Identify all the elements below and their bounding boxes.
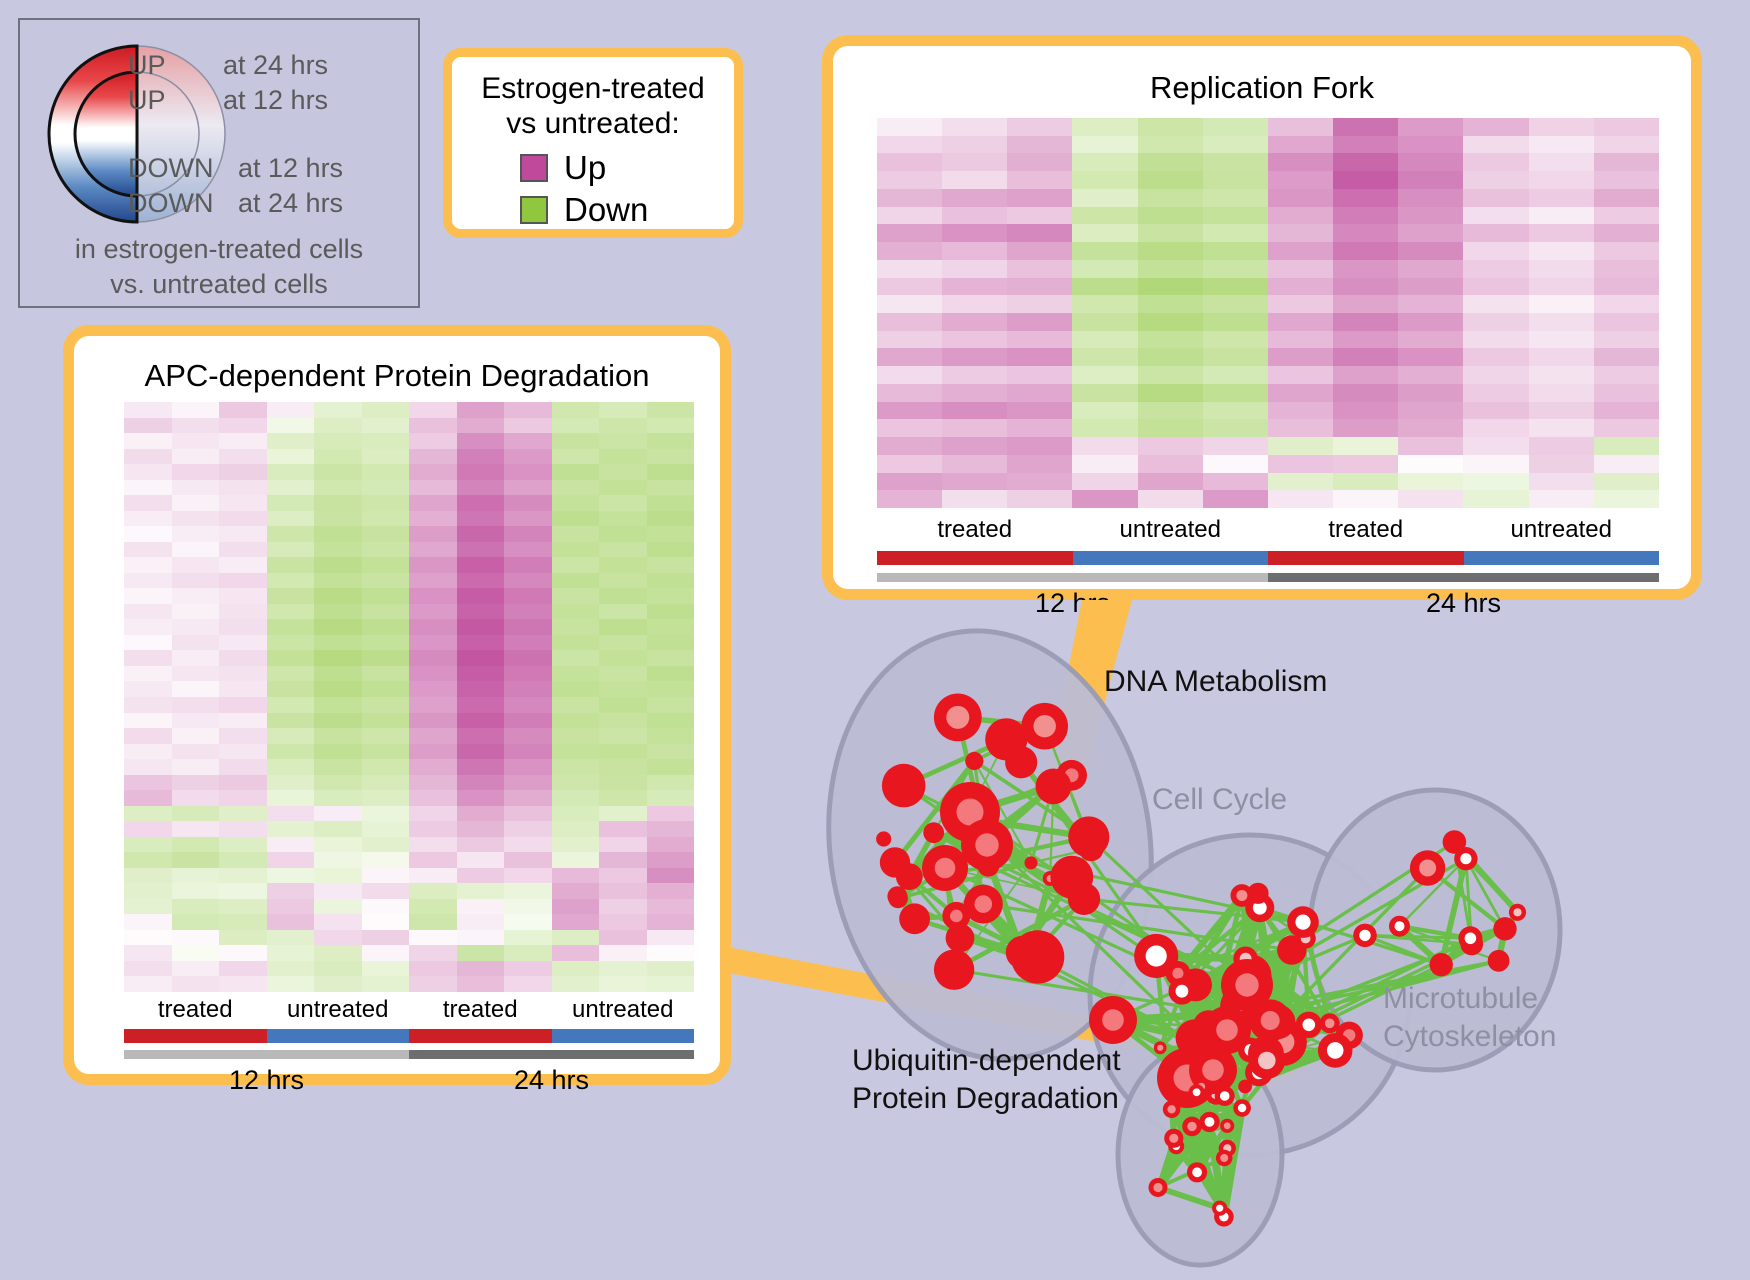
heatmap-cell [1268,366,1333,384]
heatmap-cell [1398,331,1463,349]
heatmap-cell [942,295,1007,313]
heatmap-cell [267,744,315,760]
heatmap-cell [1594,402,1659,420]
heatmap-cell [124,899,172,915]
heatmap-cell [599,868,647,884]
heatmap-cell [552,464,600,480]
heatmap-cell [409,914,457,930]
heatmap-cell [1529,473,1594,491]
heatmap-cell [314,806,362,822]
heatmap-cell [267,930,315,946]
heatmap-cell [267,449,315,465]
heatmap-cell [1203,153,1268,171]
heatmap-cell [647,899,695,915]
heatmap-cell [1529,278,1594,296]
panel-title-apc: APC-dependent Protein Degradation [74,358,720,394]
heatmap-cell [1463,331,1528,349]
heatmap-cell [504,728,552,744]
heatmap-cell [504,744,552,760]
heatmap-cell [877,207,942,225]
heatmap-cell [1072,295,1137,313]
heatmap-cell [362,666,410,682]
heatmap-cell [599,806,647,822]
treatment-bar-segment [1464,551,1660,565]
heatmap-cell [219,418,267,434]
heatmap-cell [219,790,267,806]
heatmap-cell [1333,490,1398,508]
heatmap-cell [1268,207,1333,225]
heatmap-cell [267,837,315,853]
network-node-core [1205,1117,1215,1127]
heatmap-cell [1072,260,1137,278]
network-node [934,950,974,990]
heatmap-cell [1203,473,1268,491]
heatmap-cell [409,790,457,806]
heatmap-cell [552,495,600,511]
heatmap-cell [1007,153,1072,171]
heatmap-cell [314,961,362,977]
heatmap-cell [362,728,410,744]
heatmap-cell [362,619,410,635]
heatmap-cell [1529,260,1594,278]
heatmap-cell [552,821,600,837]
heatmap-cell [124,464,172,480]
heatmap-cell [1138,437,1203,455]
network-node-core [950,910,963,923]
heatmap-cell [1333,331,1398,349]
heatmap-cell [267,790,315,806]
group-label: treated [409,996,552,1024]
heatmap-cell [504,495,552,511]
heatmap-cell [267,806,315,822]
heatmap-cell [314,930,362,946]
heatmap-cell [172,588,220,604]
heatmap-cell [457,681,505,697]
heatmap-cell [504,930,552,946]
heatmap-cell [1072,366,1137,384]
heatmap-cell [1007,437,1072,455]
heatmap-cell [599,588,647,604]
heatmap-cell [362,635,410,651]
heatmap-cell [457,961,505,977]
heatmap-cell [1138,118,1203,136]
heatmap-cell [942,437,1007,455]
heatmap-cell [599,713,647,729]
heatmap-cell [1007,384,1072,402]
heatmap-cell [1007,348,1072,366]
key-footer: in estrogen-treated cells vs. untreated … [20,232,418,301]
heatmap-cell [314,790,362,806]
heatmap-cell [1594,118,1659,136]
heatmap-cell [409,806,457,822]
heatmap-cell [647,775,695,791]
heatmap-cell [172,495,220,511]
legend-title-line1: Estrogen-treated [452,71,734,106]
network-node-core [1193,1088,1201,1096]
heatmap-cell [1333,402,1398,420]
heatmap-cell [219,868,267,884]
heatmap-cell [457,526,505,542]
heatmap-cell [267,526,315,542]
heatmap-cell [172,976,220,992]
heatmap-cell [1463,260,1528,278]
heatmap-cell [409,418,457,434]
heatmap-cell [172,464,220,480]
heatmap-cell [409,883,457,899]
heatmap-cell [314,573,362,589]
heatmap-cell [552,868,600,884]
heatmap-cell [1007,419,1072,437]
heatmap-cell [1529,207,1594,225]
heatmap-cell [1398,348,1463,366]
heatmap-cell [267,464,315,480]
heatmap-cell [599,511,647,527]
heatmap-cell [172,930,220,946]
heatmap-cell [124,557,172,573]
heatmap-cell [599,961,647,977]
heatmap-cell [504,790,552,806]
heatmap-cell [1138,402,1203,420]
heatmap-cell [1594,455,1659,473]
heatmap-cell [314,868,362,884]
heatmap-cell [552,852,600,868]
heatmap-cell [1138,278,1203,296]
heatmap-cell [504,759,552,775]
heatmap-cell [647,976,695,992]
heatmap-cell [599,650,647,666]
heatmap-cell [314,945,362,961]
heatmap-cell [314,775,362,791]
heatmap-cell [219,930,267,946]
heatmap-cell [1072,455,1137,473]
heatmap-cell [1203,278,1268,296]
heatmap-cell [362,526,410,542]
heatmap-cell [1072,313,1137,331]
network-node [1036,769,1072,805]
group-labels-apc: treateduntreatedtreateduntreated [124,996,694,1024]
heatmap-cell [124,588,172,604]
heatmap-cell [552,681,600,697]
heatmap-cell [1463,118,1528,136]
heatmap-cell [1463,313,1528,331]
heatmap-cell [504,821,552,837]
heatmap-cell [409,433,457,449]
heatmap-cell [942,490,1007,508]
network-node [1006,936,1039,969]
heatmap-cell [1333,313,1398,331]
heatmap-cell [552,604,600,620]
heatmap-cell [1463,189,1528,207]
network-node-core [1261,1011,1280,1030]
heatmap-cell [599,449,647,465]
heatmap-cell [877,348,942,366]
heatmap-cell [1594,207,1659,225]
heatmap-cell [1398,437,1463,455]
heatmap-cell [599,526,647,542]
heatmap-cell [124,526,172,542]
heatmap-cell [267,666,315,682]
network-node-core [1224,1122,1231,1129]
heatmap-cell [267,418,315,434]
legend-label-down: Down [564,191,648,229]
heatmap-cell [409,976,457,992]
heatmap-cell [267,728,315,744]
heatmap-cell [1463,455,1528,473]
heatmap-cell [1463,153,1528,171]
heatmap-cell [457,790,505,806]
heatmap-cell [409,666,457,682]
heatmap-cell [362,945,410,961]
heatmap-cell [1007,171,1072,189]
heatmap-cell [409,930,457,946]
heatmap-cell [409,619,457,635]
heatmap-cell [1594,136,1659,154]
heatmap-cell [219,495,267,511]
heatmap-cell [1398,118,1463,136]
heatmap-cell [314,635,362,651]
heatmap-cell [504,635,552,651]
network-node-core [1236,890,1247,901]
heatmap-cell [267,557,315,573]
heatmap-apc [124,402,694,992]
heatmap-cell [877,278,942,296]
heatmap-cell [172,449,220,465]
heatmap-cell [219,681,267,697]
heatmap-cell [219,883,267,899]
down-swatch-icon [520,196,548,224]
heatmap-cell [219,775,267,791]
heatmap-cell [1463,402,1528,420]
heatmap-cell [599,914,647,930]
treatment-bar-segment [124,1029,267,1043]
key-state-up-24: UP [128,50,166,81]
legend-title: Estrogen-treated vs untreated: [452,71,734,142]
heatmap-cell [172,914,220,930]
heatmap-cell [1594,366,1659,384]
time-bar-segment [1268,573,1659,582]
network-node-core [1325,1019,1335,1029]
treatment-bar-segment [409,1029,552,1043]
heatmap-cell [124,837,172,853]
group-label: untreated [1073,516,1269,544]
heatmap-cell [647,713,695,729]
heatmap-cell [1072,189,1137,207]
heatmap-cell [219,402,267,418]
key-time-down-12: at 12 hrs [238,153,343,184]
legend-items: Up Down [520,147,648,231]
heatmap-cell [362,806,410,822]
heatmap-cell [172,961,220,977]
heatmap-cell [877,242,942,260]
network-node [1443,830,1467,854]
heatmap-cell [267,697,315,713]
heatmap-cell [409,635,457,651]
key-state-up-12: UP [128,85,166,116]
heatmap-cell [124,666,172,682]
network-node-core [975,895,993,913]
heatmap-cell [1268,278,1333,296]
network-node [1238,1080,1252,1094]
network-node-core [1220,1091,1230,1101]
heatmap-cell [1529,313,1594,331]
heatmap-cell [599,790,647,806]
heatmap-cell [1138,136,1203,154]
heatmap-cell [504,961,552,977]
heatmap-cell [1529,118,1594,136]
key-time-down-24: at 24 hrs [238,188,343,219]
heatmap-cell [1333,136,1398,154]
network-node-core [1202,1059,1224,1081]
heatmap-cell [409,604,457,620]
heatmap-cell [219,449,267,465]
heatmap-cell [877,384,942,402]
legend-label-up: Up [564,149,606,187]
heatmap-cell [314,666,362,682]
heatmap-cell [647,511,695,527]
heatmap-cell [647,681,695,697]
heatmap-cell [457,821,505,837]
treatment-bar-segment [877,551,1073,565]
heatmap-cell [1072,473,1137,491]
heatmap-cell [647,480,695,496]
heatmap-cell [942,189,1007,207]
legend-item-down: Down [520,189,648,231]
heatmap-cell [552,914,600,930]
heatmap-cell [647,914,695,930]
heatmap-cell [172,480,220,496]
heatmap-cell [219,821,267,837]
heatmap-cell [1268,260,1333,278]
heatmap-cell [1268,295,1333,313]
heatmap-cell [314,588,362,604]
heatmap-cell [1594,242,1659,260]
network-node [888,889,908,909]
network-node-core [1187,1122,1196,1131]
heatmap-cell [599,619,647,635]
heatmap-cell [1333,366,1398,384]
heatmap-cell [552,744,600,760]
heatmap-cell [1268,384,1333,402]
heatmap-cell [314,852,362,868]
heatmap-cell [552,402,600,418]
heatmap-cell [124,495,172,511]
heatmap-cell [124,806,172,822]
heatmap-cell [1007,207,1072,225]
heatmap-cell [1072,224,1137,242]
heatmap-cell [409,961,457,977]
heatmap-cell [457,666,505,682]
heatmap-cell [552,806,600,822]
heatmap-cell [172,619,220,635]
heatmap-cell [1138,384,1203,402]
heatmap-cell [267,495,315,511]
heatmap-cell [1007,189,1072,207]
heatmap-cell [599,681,647,697]
heatmap-cell [409,837,457,853]
heatmap-cell [552,650,600,666]
heatmap-cell [362,557,410,573]
heatmap-cell [219,914,267,930]
heatmap-cell [1268,136,1333,154]
heatmap-cell [457,976,505,992]
heatmap-cell [1007,224,1072,242]
heatmap-cell [1007,278,1072,296]
heatmap-cell [267,650,315,666]
heatmap-cell [267,852,315,868]
time-label: 12 hrs [124,1065,409,1096]
heatmap-cell [172,744,220,760]
heatmap-cell [504,573,552,589]
heatmap-cell [1203,419,1268,437]
heatmap-cell [457,775,505,791]
heatmap-cell [1333,419,1398,437]
group-label: treated [124,996,267,1024]
heatmap-cell [362,464,410,480]
heatmap-cell [1268,473,1333,491]
heatmap-cell [942,171,1007,189]
heatmap-cell [172,759,220,775]
heatmap-cell [1333,473,1398,491]
network-node [965,752,983,770]
heatmap-cell [552,511,600,527]
heatmap-cell [1594,260,1659,278]
heatmap-cell [314,837,362,853]
heatmap-cell [1138,207,1203,225]
key-state-down-12: DOWN [128,153,213,184]
heatmap-cell [1138,419,1203,437]
heatmap-cell [877,366,942,384]
heatmap-cell [457,837,505,853]
heatmap-cell [362,914,410,930]
heatmap-cell [124,744,172,760]
heatmap-cell [314,899,362,915]
heatmap-cell [172,945,220,961]
heatmap-cell [552,945,600,961]
heatmap-cell [504,914,552,930]
heatmap-cell [362,961,410,977]
network-node-core [1172,968,1183,979]
heatmap-cell [599,418,647,434]
heatmap-cell [647,449,695,465]
heatmap-cell [1268,242,1333,260]
time-label: 24 hrs [409,1065,694,1096]
heatmap-cell [314,480,362,496]
heatmap-cell [457,868,505,884]
heatmap-cell [124,619,172,635]
network-node [899,903,930,934]
heatmap-cell [267,635,315,651]
heatmap-cell [1138,366,1203,384]
heatmap-cell [457,852,505,868]
heatmap-cell [647,930,695,946]
heatmap-cell [647,557,695,573]
time-bar-segment [877,573,1268,582]
heatmap-cell [362,449,410,465]
heatmap-cell [1007,118,1072,136]
heatmap-cell [1594,348,1659,366]
heatmap-cell [1463,490,1528,508]
heatmap-cell [219,759,267,775]
heatmap-cell [362,573,410,589]
heatmap-cell [362,433,410,449]
up-swatch-icon [520,154,548,182]
heatmap-cell [1529,136,1594,154]
heatmap-cell [599,480,647,496]
heatmap-cell [219,697,267,713]
heatmap-cell [124,402,172,418]
heatmap-cell [1007,313,1072,331]
network-node-core [1513,908,1521,916]
